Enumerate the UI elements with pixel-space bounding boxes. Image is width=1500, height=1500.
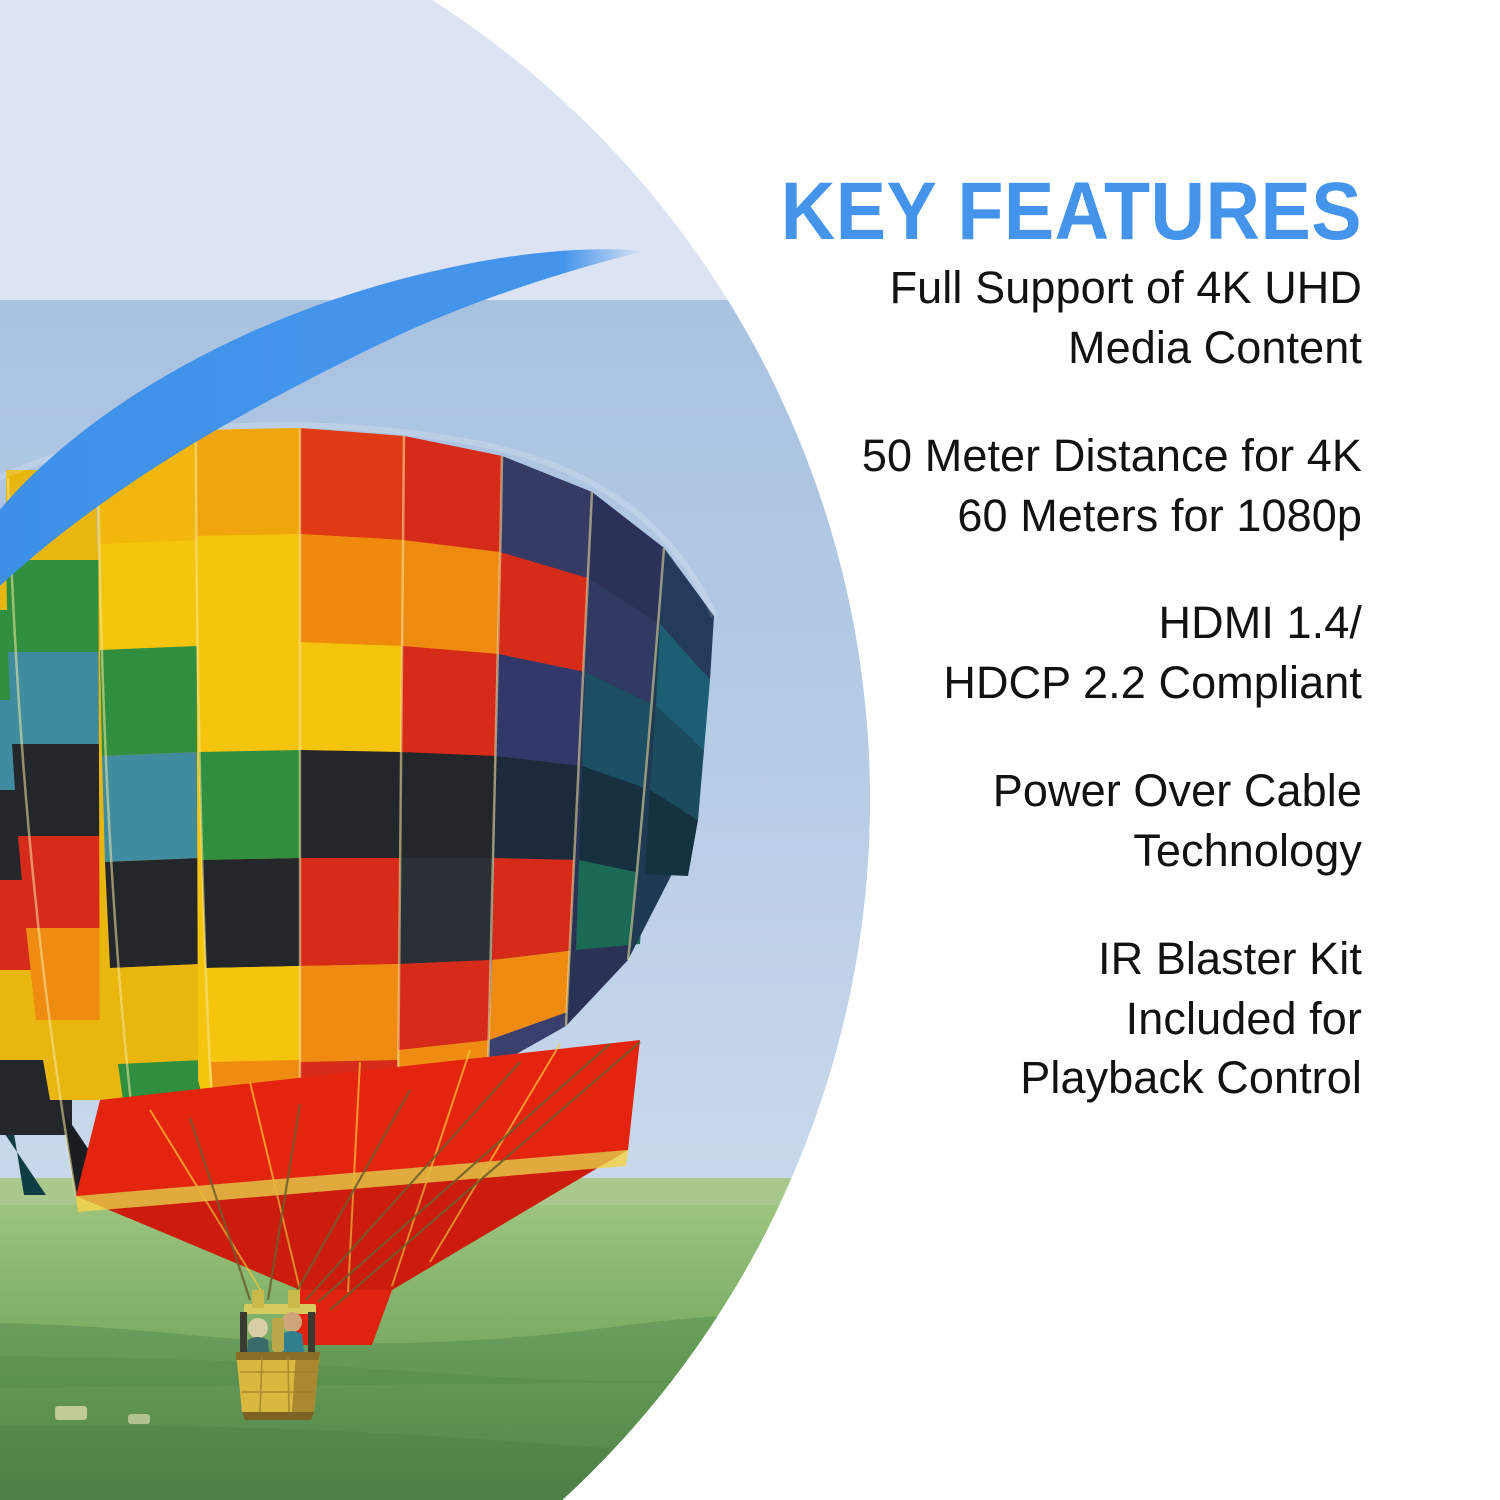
passenger-head xyxy=(248,1318,268,1338)
balloon-gore-6 xyxy=(397,436,502,1096)
feature-line: HDMI 1.4/ xyxy=(742,593,1362,653)
feature-distance: 50 Meter Distance for 4K 60 Meters for 1… xyxy=(742,426,1362,546)
feature-hdmi-hdcp: HDMI 1.4/ HDCP 2.2 Compliant xyxy=(742,593,1362,713)
balloon-gore-4 xyxy=(196,428,300,1140)
feature-line: Full Support of 4K UHD xyxy=(742,258,1362,318)
balloon-gore-5 xyxy=(300,428,404,1112)
feature-line: Playback Control xyxy=(742,1048,1362,1108)
feature-line: HDCP 2.2 Compliant xyxy=(742,653,1362,713)
passenger-head xyxy=(282,1312,302,1332)
feature-ir-blaster: IR Blaster Kit Included for Playback Con… xyxy=(742,929,1362,1109)
page-title: KEY FEATURES xyxy=(718,171,1362,253)
feature-line: Power Over Cable xyxy=(742,761,1362,821)
feature-power-over-cable: Power Over Cable Technology xyxy=(742,761,1362,881)
balloon-basket xyxy=(236,1290,320,1420)
feature-line: Technology xyxy=(742,821,1362,881)
text-column: KEY FEATURES Full Support of 4K UHD Medi… xyxy=(640,0,1500,1500)
balloon-gore-3 xyxy=(98,436,203,1180)
feature-line: Included for xyxy=(742,989,1362,1049)
feature-4k-uhd-support: Full Support of 4K UHD Media Content xyxy=(742,258,1362,378)
feature-line: IR Blaster Kit xyxy=(742,929,1362,989)
feature-line: Media Content xyxy=(742,318,1362,378)
features-list: Full Support of 4K UHD Media Content 50 … xyxy=(742,258,1362,1108)
feature-line: 60 Meters for 1080p xyxy=(742,486,1362,546)
feature-line: 50 Meter Distance for 4K xyxy=(742,426,1362,486)
key-features-graphic: KEY FEATURES Full Support of 4K UHD Medi… xyxy=(0,0,1500,1500)
